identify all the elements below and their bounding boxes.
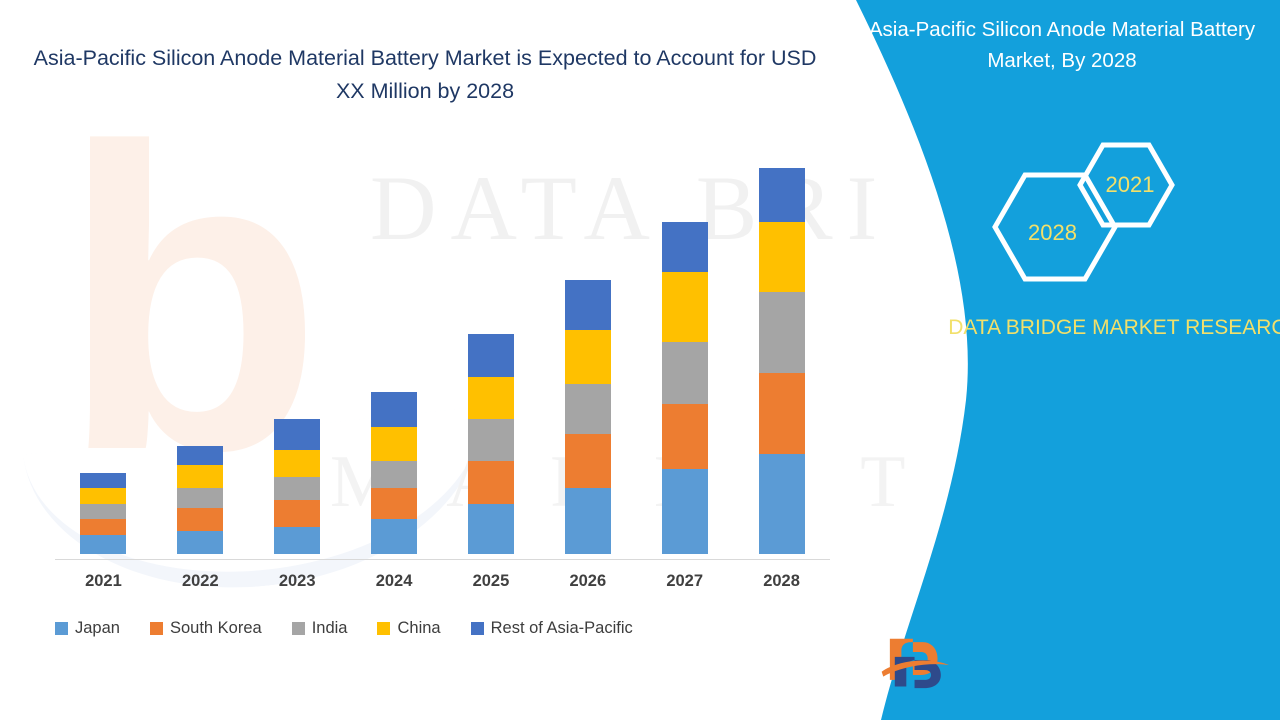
hexagon-2028-label: 2028 (1005, 220, 1100, 246)
bar-column[interactable] (80, 473, 126, 554)
bar-column[interactable] (759, 168, 805, 554)
bar-segment[interactable] (371, 488, 417, 519)
bar-segment[interactable] (371, 427, 417, 462)
x-axis-label: 2021 (63, 572, 143, 591)
legend-label: Rest of Asia-Pacific (491, 619, 633, 638)
bar-segment[interactable] (274, 419, 320, 450)
bar-segment[interactable] (662, 404, 708, 470)
bar-segment[interactable] (274, 500, 320, 527)
bar-segment[interactable] (759, 168, 805, 222)
bar-segment[interactable] (565, 434, 611, 488)
x-axis-label: 2028 (742, 572, 822, 591)
company-logo[interactable]: DATA BRIDGE MARKET RESEARCH (880, 630, 1110, 702)
x-axis-tick-labels: 20212022202320242025202620272028 (55, 572, 830, 596)
legend-swatch-icon (292, 622, 305, 635)
x-axis-label: 2022 (160, 572, 240, 591)
legend-label: India (312, 619, 348, 638)
bar-column[interactable] (565, 280, 611, 554)
x-axis-label: 2025 (451, 572, 531, 591)
x-axis-label: 2024 (354, 572, 434, 591)
bar-segment[interactable] (177, 488, 223, 507)
legend-label: South Korea (170, 619, 262, 638)
legend-swatch-icon (150, 622, 163, 635)
bar-segment[interactable] (371, 461, 417, 488)
bar-segment[interactable] (274, 527, 320, 554)
data-bridge-b-logo-icon (880, 630, 954, 692)
page-title: Asia-Pacific Silicon Anode Material Batt… (20, 42, 830, 108)
bar-column[interactable] (274, 419, 320, 554)
hexagon-2021-label: 2021 (1085, 172, 1175, 198)
legend-swatch-icon (377, 622, 390, 635)
x-axis-label: 2026 (548, 572, 628, 591)
bar-segment[interactable] (177, 465, 223, 488)
bar-segment[interactable] (274, 450, 320, 477)
bar-segment[interactable] (468, 377, 514, 419)
legend-item[interactable]: Japan (55, 619, 120, 638)
bar-column[interactable] (177, 446, 223, 554)
legend-item[interactable]: India (292, 619, 348, 638)
bar-segment[interactable] (177, 508, 223, 531)
chart-legend: JapanSouth KoreaIndiaChinaRest of Asia-P… (55, 615, 835, 641)
legend-swatch-icon (55, 622, 68, 635)
legend-label: China (397, 619, 440, 638)
bar-column[interactable] (371, 392, 417, 554)
bar-segment[interactable] (759, 373, 805, 454)
bar-segment[interactable] (468, 419, 514, 461)
bar-column[interactable] (468, 334, 514, 554)
bar-segment[interactable] (371, 392, 417, 427)
legend-swatch-icon (471, 622, 484, 635)
legend-item[interactable]: South Korea (150, 619, 262, 638)
bar-segment[interactable] (371, 519, 417, 554)
bar-segment[interactable] (177, 446, 223, 465)
bar-column[interactable] (662, 222, 708, 554)
bar-segment[interactable] (565, 384, 611, 434)
bar-segment[interactable] (662, 272, 708, 341)
legend-item[interactable]: Rest of Asia-Pacific (471, 619, 633, 638)
bar-segment[interactable] (80, 535, 126, 554)
brand-name: DATA BRIDGE MARKET RESEARCH (930, 312, 1280, 343)
bar-segment[interactable] (759, 292, 805, 373)
bar-segment[interactable] (662, 342, 708, 404)
panel-title: Asia-Pacific Silicon Anode Material Batt… (862, 14, 1262, 76)
stacked-bar-chart (55, 150, 830, 560)
chart-plot-area (55, 150, 830, 555)
bar-segment[interactable] (80, 519, 126, 534)
bar-segment[interactable] (468, 504, 514, 554)
bar-segment[interactable] (177, 531, 223, 554)
bar-segment[interactable] (662, 469, 708, 554)
legend-item[interactable]: China (377, 619, 440, 638)
x-axis-line (55, 559, 830, 560)
bar-segment[interactable] (759, 454, 805, 554)
bar-segment[interactable] (468, 461, 514, 503)
bar-segment[interactable] (759, 222, 805, 291)
x-axis-label: 2027 (645, 572, 725, 591)
bar-segment[interactable] (565, 488, 611, 554)
infographic-canvas: b DATA BRI M A R K E T R E S E A R C H A… (0, 0, 1280, 720)
bar-segment[interactable] (80, 473, 126, 488)
bar-segment[interactable] (565, 330, 611, 384)
bar-segment[interactable] (274, 477, 320, 500)
bar-segment[interactable] (468, 334, 514, 376)
bar-segment[interactable] (80, 488, 126, 503)
bar-segment[interactable] (565, 280, 611, 330)
bar-segment[interactable] (662, 222, 708, 272)
bar-segment[interactable] (80, 504, 126, 519)
legend-label: Japan (75, 619, 120, 638)
x-axis-label: 2023 (257, 572, 337, 591)
